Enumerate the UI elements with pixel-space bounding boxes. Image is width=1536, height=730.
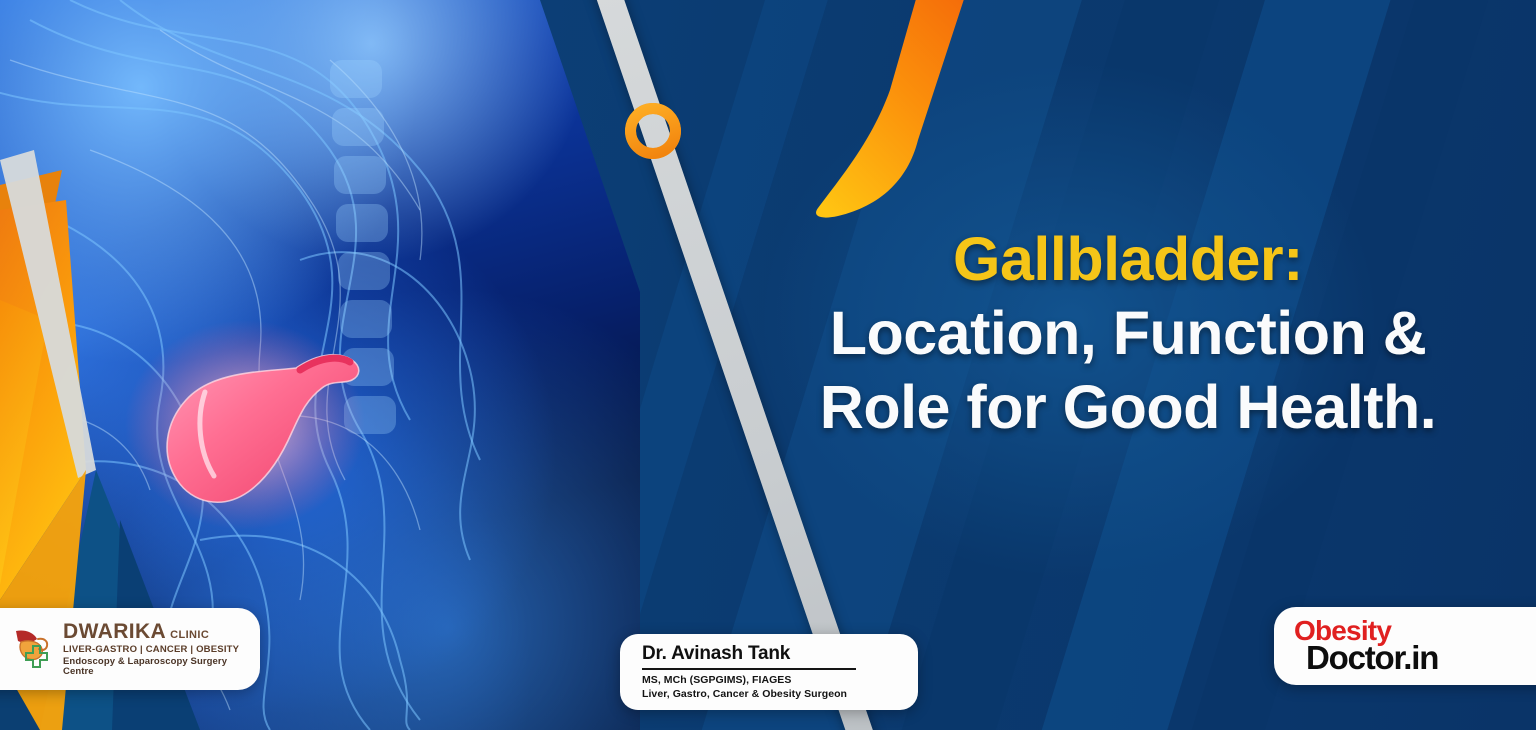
divider-rule: [642, 668, 856, 670]
banner-root: Gallbladder: Location, Function & Role f…: [0, 0, 1536, 730]
orange-ring-icon: [625, 103, 681, 159]
clinic-name: DWARIKA: [63, 621, 166, 643]
page-title: Gallbladder: Location, Function & Role f…: [748, 228, 1508, 438]
headline-line-2: Location, Function &: [748, 302, 1508, 365]
doctor-info-badge[interactable]: Dr. Avinash Tank MS, MCh (SGPGIMS), FIAG…: [620, 634, 918, 710]
orange-swoosh-icon: [780, 0, 1010, 240]
clinic-logo-badge[interactable]: DWARIKA CLINIC LIVER-GASTRO | CANCER | O…: [0, 608, 260, 690]
clinic-suffix: CLINIC: [170, 630, 209, 642]
doctor-specialty: Liver, Gastro, Cancer & Obesity Surgeon: [642, 688, 902, 702]
site-logo-badge[interactable]: Obesity Doctor.in: [1274, 607, 1536, 685]
doctor-name: Dr. Avinash Tank: [642, 643, 902, 665]
site-logo-word-2: Doctor.in: [1306, 643, 1536, 673]
liver-stomach-cross-icon: [12, 627, 58, 671]
clinic-specialties: LIVER-GASTRO | CANCER | OBESITY: [63, 645, 260, 655]
headline-line-3: Role for Good Health.: [748, 376, 1508, 439]
headline-line-1: Gallbladder:: [748, 228, 1508, 291]
doctor-qualifications: MS, MCh (SGPGIMS), FIAGES: [642, 674, 902, 688]
clinic-tagline: Endoscopy & Laparoscopy Surgery Centre: [63, 657, 260, 677]
